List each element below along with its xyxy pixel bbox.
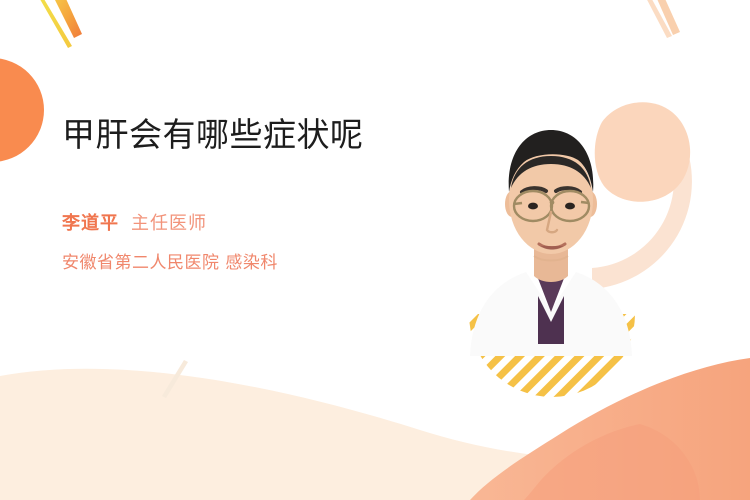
doctor-portrait: [458, 96, 644, 356]
eye-left: [528, 203, 538, 210]
doctor-affiliation: 安徽省第二人民医院 感染科: [62, 248, 432, 273]
eye-right: [565, 203, 575, 210]
page-title: 甲肝会有哪些症状呢: [62, 112, 432, 157]
health-video-cover-card: 甲肝会有哪些症状呢 李道平 主任医师 安徽省第二人民医院 感染科: [0, 0, 750, 500]
doctor-portrait-illustration: [458, 96, 644, 356]
doctor-name: 李道平: [62, 209, 119, 235]
byline: 李道平 主任医师: [62, 209, 432, 235]
doctor-title: 主任医师: [131, 209, 207, 235]
text-block: 甲肝会有哪些症状呢 李道平 主任医师 安徽省第二人民医院 感染科: [62, 112, 432, 273]
